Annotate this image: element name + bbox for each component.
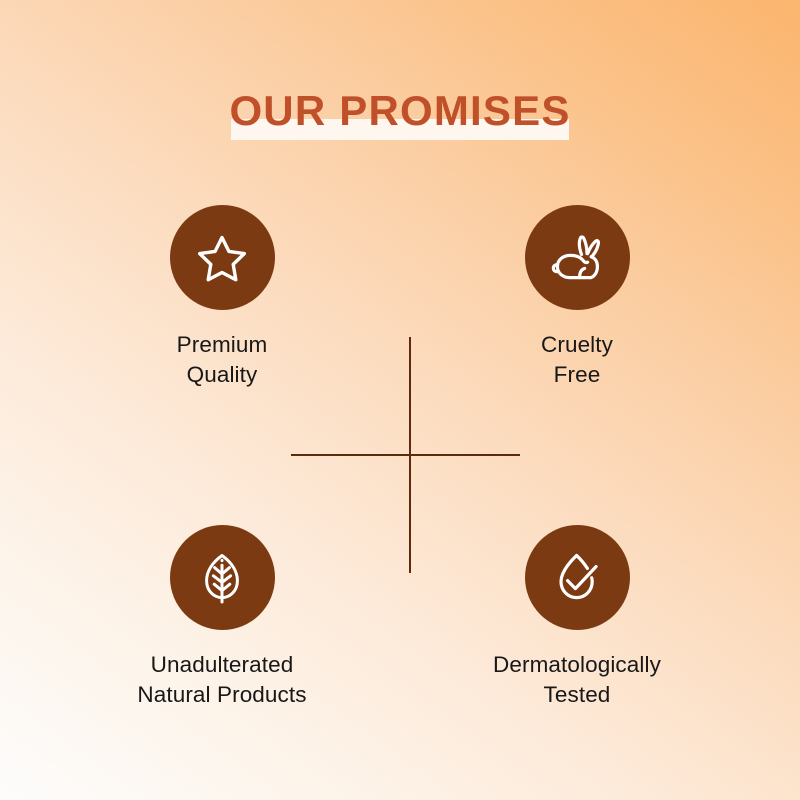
star-icon [193,229,251,287]
leaf-icon [193,549,251,607]
page-title-text: OUR PROMISES [0,86,800,136]
promise-label-cruelty-free: Cruelty Free [541,330,613,390]
divider-horizontal-line [291,454,520,456]
divider-vertical-line [409,337,411,573]
promise-label-premium-quality: Premium Quality [177,330,268,390]
promises-card: OUR PROMISES Premium Quality [0,0,800,800]
promise-icon-circle-cruelty-free [525,205,630,310]
promise-item-premium-quality: Premium Quality [57,205,387,390]
promise-label-natural-products: Unadulterated Natural Products [137,650,306,710]
promise-icon-circle-premium-quality [170,205,275,310]
page-title: OUR PROMISES [0,86,800,148]
droplet-check-icon [547,548,607,608]
promise-icon-circle-dermatologically-tested [525,525,630,630]
promise-icon-circle-natural-products [170,525,275,630]
rabbit-icon [546,227,608,289]
promise-item-dermatologically-tested: Dermatologically Tested [412,525,742,710]
promise-item-cruelty-free: Cruelty Free [412,205,742,390]
promise-label-dermatologically-tested: Dermatologically Tested [493,650,661,710]
promise-item-natural-products: Unadulterated Natural Products [57,525,387,710]
